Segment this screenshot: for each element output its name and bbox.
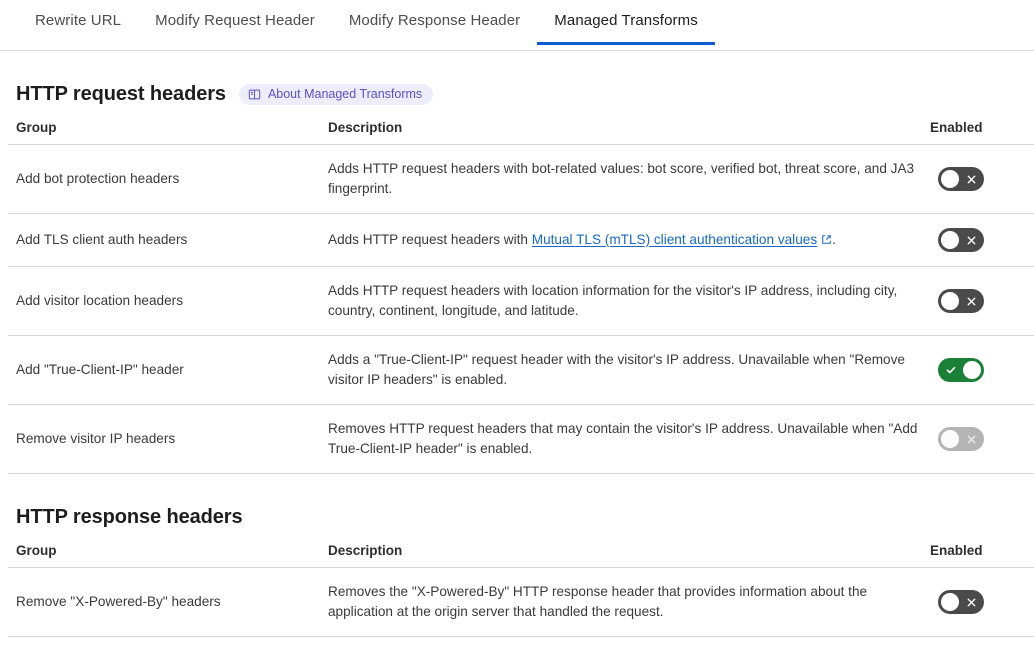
toggle-knob xyxy=(941,593,959,611)
about-badge-label: About Managed Transforms xyxy=(268,88,422,101)
table-header-row: Group Description Enabled xyxy=(8,120,1034,145)
row-enabled-cell xyxy=(930,214,1034,267)
column-header-group: Group xyxy=(8,120,320,145)
page-title-request-headers: HTTP request headers xyxy=(16,83,226,106)
row-enabled-cell xyxy=(930,267,1034,336)
section-header-request: HTTP request headers About Managed Trans… xyxy=(8,83,1026,106)
table-row: Add security headers Adds several securi… xyxy=(8,637,1034,653)
tab-bar: Rewrite URL Modify Request Header Modify… xyxy=(0,0,1034,51)
close-icon xyxy=(965,167,977,191)
row-enabled-cell xyxy=(930,637,1034,653)
table-row: Add bot protection headers Adds HTTP req… xyxy=(8,145,1034,214)
row-group-label: Add security headers xyxy=(8,637,320,653)
tab-rewrite-url[interactable]: Rewrite URL xyxy=(18,0,138,44)
page-title-response-headers: HTTP response headers xyxy=(16,506,243,529)
row-description: Removes the "X-Powered-By" HTTP response… xyxy=(320,568,930,637)
toggle-add-tls-client-auth-headers[interactable] xyxy=(938,228,984,252)
external-link-icon xyxy=(821,231,832,251)
close-icon xyxy=(965,590,977,614)
row-group-label: Add "True-Client-IP" header xyxy=(8,336,320,405)
row-enabled-cell xyxy=(930,336,1034,405)
column-header-enabled: Enabled xyxy=(930,120,1034,145)
table-row: Add "True-Client-IP" header Adds a "True… xyxy=(8,336,1034,405)
toggle-knob xyxy=(941,292,959,310)
toggle-knob xyxy=(941,430,959,448)
tab-managed-transforms[interactable]: Managed Transforms xyxy=(537,0,715,44)
row-description: Removes HTTP request headers that may co… xyxy=(320,405,930,474)
section-header-response: HTTP response headers xyxy=(8,506,1026,529)
row-description: Adds HTTP request headers with Mutual TL… xyxy=(320,214,930,267)
table-row: Add TLS client auth headers Adds HTTP re… xyxy=(8,214,1034,267)
row-description: Adds HTTP request headers with location … xyxy=(320,267,930,336)
toggle-add-bot-protection-headers[interactable] xyxy=(938,167,984,191)
check-icon xyxy=(945,358,957,382)
close-icon xyxy=(965,289,977,313)
row-description: Adds a "True-Client-IP" request header w… xyxy=(320,336,930,405)
column-header-enabled: Enabled xyxy=(930,543,1034,568)
row-enabled-cell xyxy=(930,405,1034,474)
table-row: Remove visitor IP headers Removes HTTP r… xyxy=(8,405,1034,474)
tab-modify-request-header[interactable]: Modify Request Header xyxy=(138,0,332,44)
column-header-group: Group xyxy=(8,543,320,568)
mtls-documentation-link[interactable]: Mutual TLS (mTLS) client authentication … xyxy=(532,232,817,247)
toggle-remove-visitor-ip-headers xyxy=(938,427,984,451)
row-description-prefix: Adds HTTP request headers with xyxy=(328,232,532,247)
toggle-add-true-client-ip-header[interactable] xyxy=(938,358,984,382)
row-group-label: Remove "X-Powered-By" headers xyxy=(8,568,320,637)
row-enabled-cell xyxy=(930,568,1034,637)
table-header-row: Group Description Enabled xyxy=(8,543,1034,568)
toggle-knob xyxy=(963,361,981,379)
table-row: Add visitor location headers Adds HTTP r… xyxy=(8,267,1034,336)
about-managed-transforms-badge[interactable]: About Managed Transforms xyxy=(239,84,433,105)
toggle-knob xyxy=(941,231,959,249)
column-header-description: Description xyxy=(320,543,930,568)
column-header-description: Description xyxy=(320,120,930,145)
row-group-label: Add visitor location headers xyxy=(8,267,320,336)
table-request-headers: Group Description Enabled Add bot protec… xyxy=(8,120,1034,474)
table-row: Remove "X-Powered-By" headers Removes th… xyxy=(8,568,1034,637)
table-response-headers: Group Description Enabled Remove "X-Powe… xyxy=(8,543,1034,653)
row-enabled-cell xyxy=(930,145,1034,214)
row-description-suffix: . xyxy=(832,232,836,247)
toggle-add-visitor-location-headers[interactable] xyxy=(938,289,984,313)
book-icon xyxy=(248,88,261,101)
row-description: Adds HTTP request headers with bot-relat… xyxy=(320,145,930,214)
tab-modify-response-header[interactable]: Modify Response Header xyxy=(332,0,537,44)
row-group-label: Add bot protection headers xyxy=(8,145,320,214)
row-description: Adds several security-related HTTP respo… xyxy=(320,637,930,653)
row-group-label: Add TLS client auth headers xyxy=(8,214,320,267)
toggle-remove-x-powered-by-headers[interactable] xyxy=(938,590,984,614)
close-icon xyxy=(965,427,977,451)
section-http-response-headers: HTTP response headers Group Description … xyxy=(0,506,1034,653)
toggle-knob xyxy=(941,170,959,188)
row-group-label: Remove visitor IP headers xyxy=(8,405,320,474)
page-content: HTTP request headers About Managed Trans… xyxy=(0,83,1034,653)
section-http-request-headers: HTTP request headers About Managed Trans… xyxy=(0,83,1034,474)
close-icon xyxy=(965,228,977,252)
